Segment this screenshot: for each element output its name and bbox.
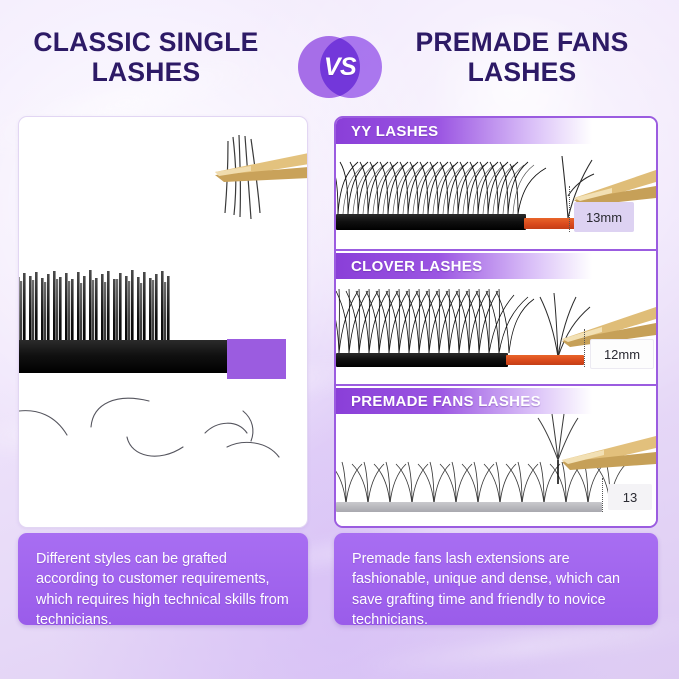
yy-lash-tray-illustration [336,140,656,249]
left-card-surface [18,116,308,528]
clover-lash-base-black [336,353,508,367]
card-banner-yy: YY LASHES [336,118,656,144]
card-premade-fans-lashes: 13 PREMADE FANS LASHES [336,388,656,526]
measure-guide-line [569,186,570,232]
measure-guide-line [602,478,603,512]
panel-classic-single-lashes [18,116,308,528]
measurement-tag-clover: 12mm [590,339,654,369]
title-left: CLASSIC SINGLE LASHES [10,28,282,88]
caption-premade-fans-lashes: Premade fans lash extensions are fashion… [334,533,658,625]
scattered-lashes-illustration [19,385,308,495]
card-label-clover: CLOVER LASHES [336,258,482,275]
card-label-yy: YY LASHES [336,123,438,140]
infographic-root: CLASSIC SINGLE LASHES VS PREMADE FANS LA… [0,0,679,679]
measurement-value: 13 [623,490,637,505]
right-card-surface: 13mm YY LASHES [334,116,658,528]
measure-guide-line [584,329,585,367]
panel-premade-fans-lashes: 13mm YY LASHES [334,116,658,528]
title-right: PREMADE FANS LASHES [386,28,658,88]
header: CLASSIC SINGLE LASHES VS PREMADE FANS LA… [0,28,679,106]
measurement-tag-premade: 13 [608,484,652,510]
card-label-premade: PREMADE FANS LASHES [336,393,541,410]
lash-base-band [18,340,233,373]
caption-classic-single-lashes: Different styles can be grafted accordin… [18,533,308,625]
card-yy-lashes: 13mm YY LASHES [336,118,656,249]
clover-lash-base-orange [506,355,584,365]
vs-label: VS [298,36,382,98]
card-clover-lashes: 12mm CLOVER LASHES [336,253,656,384]
lash-strip-purple-tab [227,339,286,379]
card-banner-clover: CLOVER LASHES [336,253,656,279]
card-banner-premade: PREMADE FANS LASHES [336,388,656,414]
measurement-tag-yy: 13mm [574,202,634,232]
card-divider [336,249,656,251]
yy-lash-base-black [336,214,526,230]
vs-badge: VS [298,36,382,98]
measurement-value: 13mm [586,210,622,225]
card-divider [336,384,656,386]
measurement-value: 12mm [604,347,640,362]
premade-fans-base-strip [336,502,602,512]
tweezers-single-lash-illustration [19,123,308,253]
